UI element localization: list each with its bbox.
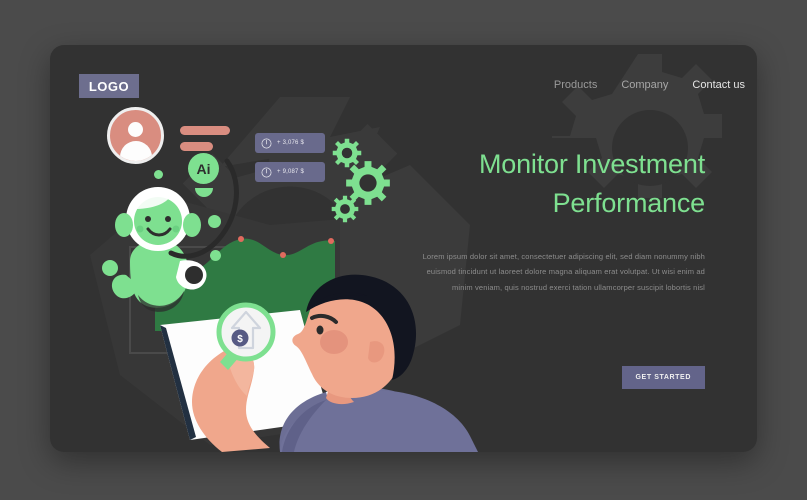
hero-body-text: Lorem ipsum dolor sit amet, consectetuer… (405, 249, 705, 295)
stat-card-1-value: + 3,076 $ (277, 140, 304, 146)
stat-card-2-value: + 9,087 $ (277, 169, 304, 175)
accent-dot-2 (154, 170, 163, 179)
headline-line-2: Performance (553, 188, 705, 218)
background-outline-square (128, 245, 228, 360)
accent-ring-icon (165, 155, 245, 270)
logo-label: LOGO (89, 79, 129, 94)
avatar-body (120, 141, 152, 164)
magnifier-growth-icon: $ (210, 300, 280, 375)
stat-card-2[interactable]: + 9,087 $ (255, 162, 325, 182)
main-navigation: Products Company Contact us (554, 79, 745, 91)
headline-line-1: Monitor Investment (479, 149, 705, 179)
ai-badge-label: Ai (197, 161, 211, 177)
magnifier-dollar-label: $ (237, 334, 243, 345)
performance-area-chart (155, 221, 335, 331)
accent-dot-4 (210, 250, 221, 261)
avatar (107, 107, 164, 164)
get-started-button[interactable]: GET STARTED (622, 366, 705, 389)
nav-item-contact-us[interactable]: Contact us (692, 79, 745, 91)
ai-badge-tail (195, 188, 213, 197)
stat-card-1[interactable]: + 3,076 $ (255, 133, 325, 153)
accent-dot-3 (102, 260, 118, 276)
illustration-scene (130, 270, 550, 452)
avatar-subtitle-bar (180, 142, 213, 151)
avatar-name-bar (180, 126, 230, 135)
background-polygon-1 (220, 97, 390, 222)
gear-icon-small-bottom (331, 195, 359, 228)
gear-icon-large (345, 160, 391, 211)
background-polygon-2 (90, 195, 420, 450)
accent-dot-1 (208, 215, 221, 228)
avatar-head (128, 122, 143, 137)
nav-item-products[interactable]: Products (554, 79, 597, 91)
hero-copy: Monitor Investment Performance Lorem ips… (405, 145, 705, 295)
nav-item-company[interactable]: Company (621, 79, 668, 91)
power-icon (261, 138, 272, 149)
robot-mascot-icon (108, 183, 218, 333)
logo[interactable]: LOGO (79, 74, 139, 98)
page-title: Monitor Investment Performance (405, 145, 705, 223)
ai-badge: Ai (188, 153, 219, 184)
power-icon (261, 167, 272, 178)
screenshot-root: LOGO Products Company Contact us Monitor… (0, 0, 807, 500)
gear-icon-small-top (332, 138, 362, 173)
hero-card: LOGO Products Company Contact us Monitor… (50, 45, 757, 452)
